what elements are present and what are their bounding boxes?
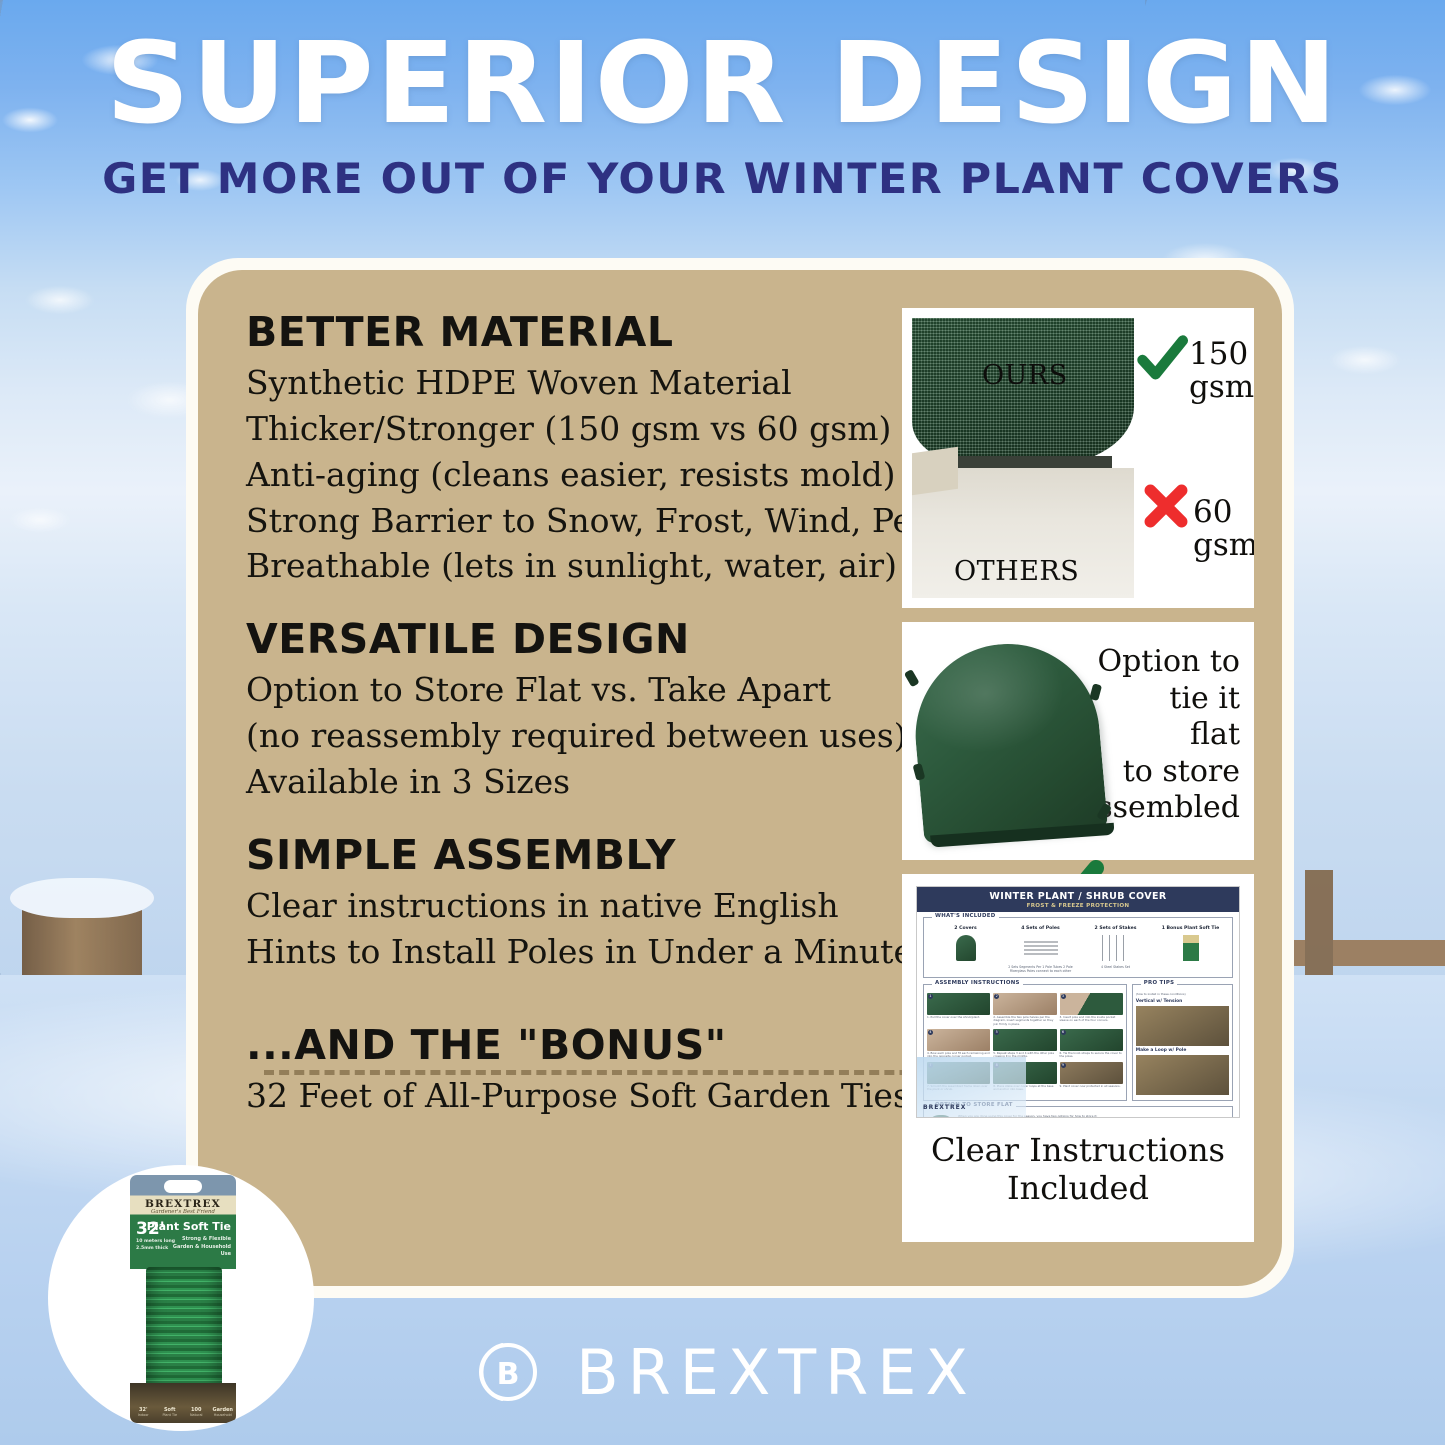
- feature-line: Strong Barrier to Snow, Frost, Wind, Pes…: [246, 498, 1016, 544]
- feature-line: Hints to Install Poles in Under a Minute: [246, 929, 1016, 975]
- assembly-step: 44. Bow each pole and fit each remaining…: [927, 1029, 990, 1059]
- footer-item-label: Household: [210, 1413, 237, 1417]
- gsm-good-row: 150 gsm: [1136, 334, 1254, 403]
- included-item-name: 2 Sets of Stakes: [1080, 926, 1152, 931]
- stakes-icon: [1080, 933, 1152, 963]
- soft-tie-product-badge: BREXTREX Gardener's Best Friend 32' 10 m…: [48, 1165, 314, 1431]
- package-footer-card: 32' Indoor Soft Plant Tie 100 Natural Ga…: [130, 1383, 236, 1423]
- panel-fabric-comparison: OURS OTHERS 150 gsm: [902, 308, 1254, 608]
- footer-item-label: Indoor: [130, 1413, 157, 1417]
- gsm-bad-unit: gsm: [1193, 529, 1254, 562]
- included-item-name: 4 Sets of Poles: [1005, 926, 1077, 931]
- gsm-bad-row: 60 gsm: [1140, 480, 1254, 561]
- fabric-gsm-marks: 150 gsm 60 gsm: [1134, 318, 1244, 598]
- step-caption: 2. Assemble the two pole halves per the …: [993, 1016, 1056, 1026]
- section-divider: [264, 1070, 970, 1075]
- package-product-name: Plant Soft Tie: [147, 1220, 231, 1233]
- feature-card: BETTER MATERIAL Synthetic HDPE Woven Mat…: [198, 270, 1282, 1286]
- sheet-subtitle: FROST & FREEZE PROTECTION: [917, 903, 1239, 909]
- feature-section-better-material: BETTER MATERIAL Synthetic HDPE Woven Mat…: [246, 308, 1016, 589]
- included-item: 4 Sets of Poles 2 Sets Segments Per 1 Po…: [1005, 926, 1077, 973]
- section-heading: VERSATILE DESIGN: [246, 615, 1016, 663]
- package-footer-item: Soft Plant Tie: [157, 1407, 184, 1417]
- pro-tips-sub: (how to install in these conditions): [1136, 993, 1229, 997]
- feature-card-frame: BETTER MATERIAL Synthetic HDPE Woven Mat…: [186, 258, 1294, 1298]
- feature-section-versatile-design: VERSATILE DESIGN Option to Store Flat vs…: [246, 615, 1016, 805]
- cross-icon: [1140, 480, 1192, 532]
- poles-icon: [1005, 933, 1077, 963]
- feature-line: Synthetic HDPE Woven Material: [246, 360, 1016, 406]
- step-number: 6: [1061, 1030, 1066, 1035]
- feature-line: Thicker/Stronger (150 gsm vs 60 gsm): [246, 406, 1016, 452]
- ours-label: OURS: [982, 360, 1068, 391]
- panel-store-flat: Option to tie it flat to store assembled: [902, 622, 1254, 860]
- package-footer-item: 100 Natural: [183, 1407, 210, 1417]
- product-image-panels: OURS OTHERS 150 gsm: [902, 308, 1254, 1256]
- footer-item-label: Plant Tie: [157, 1413, 184, 1417]
- feature-line: Available in 3 Sizes: [246, 759, 1016, 805]
- tie-strap: [904, 669, 920, 687]
- sheet-header: WINTER PLANT / SHRUB COVER FROST & FREEZ…: [917, 887, 1239, 912]
- assembly-label: ASSEMBLY INSTRUCTIONS: [932, 980, 1023, 986]
- package-features: Strong & Flexible Garden & Household Use: [169, 1236, 231, 1259]
- feature-section-simple-assembly: SIMPLE ASSEMBLY Clear instructions in na…: [246, 831, 1016, 975]
- step-caption: 1. Pull the cover over the shrub/plant.: [927, 1016, 990, 1019]
- included-item: 2 Covers: [930, 926, 1002, 973]
- feature-line: Option to Store Flat vs. Take Apart: [246, 667, 1016, 713]
- section-heading: SIMPLE ASSEMBLY: [246, 831, 1016, 879]
- step-number: 1: [928, 994, 933, 999]
- step-number: 3: [1061, 994, 1066, 999]
- step-caption: 9. Plant cover now protected in all seas…: [1060, 1085, 1123, 1088]
- cover-icon: [930, 933, 1002, 963]
- gsm-good-unit: gsm: [1189, 371, 1254, 404]
- fabric-photo: OURS OTHERS: [912, 318, 1134, 598]
- gsm-good-text: 150 gsm: [1189, 338, 1254, 403]
- brand-name: BREXTREX: [576, 1336, 977, 1409]
- step-number: 4: [928, 1030, 933, 1035]
- step-caption: 3. Insert pole end into the inside pocke…: [1060, 1016, 1123, 1023]
- green-tie-coil: [146, 1267, 222, 1389]
- assembly-step: 66. Tie the knob straps to secure the co…: [1060, 1029, 1123, 1059]
- assembly-step: 55. Repeat steps 3 and 4 with the other …: [993, 1029, 1056, 1059]
- feature-line: Breathable (lets in sunlight, water, air…: [246, 543, 1016, 589]
- svg-text:B: B: [497, 1357, 520, 1392]
- footer-item-label: Natural: [183, 1413, 210, 1417]
- assembly-step: 22. Assemble the two pole halves per the…: [993, 993, 1056, 1026]
- package-footer-item: 32' Indoor: [130, 1407, 157, 1417]
- folded-cover-photo: [912, 632, 1079, 850]
- package-footer-item: Garden Household: [210, 1407, 237, 1417]
- package-header-card: BREXTREX Gardener's Best Friend 32' 10 m…: [130, 1175, 236, 1269]
- pro-tip-photo: [1136, 1055, 1229, 1095]
- included-item: 2 Sets of Stakes 4 Steel Stakes Set: [1080, 926, 1152, 973]
- circled-b-logo-icon: B: [468, 1335, 542, 1409]
- others-label: OTHERS: [954, 556, 1079, 587]
- included-item: 1 Bonus Plant Soft Tie: [1155, 926, 1227, 973]
- section-heading: ...AND THE "BONUS": [246, 1021, 1016, 1069]
- package-tagline: Gardener's Best Friend: [130, 1209, 236, 1215]
- tie-strap: [913, 763, 926, 781]
- pro-tips-label: PRO TIPS: [1141, 980, 1177, 986]
- feature-list: BETTER MATERIAL Synthetic HDPE Woven Mat…: [246, 308, 1016, 1118]
- whats-included-label: WHAT'S INCLUDED: [932, 913, 999, 919]
- gsm-good-value: 150: [1189, 338, 1254, 371]
- feature-line: Anti-aging (cleans easier, resists mold): [246, 452, 1016, 498]
- page-subtitle: GET MORE OUT OF YOUR WINTER PLANT COVERS: [0, 154, 1445, 203]
- ours-fabric-swatch: [912, 318, 1134, 466]
- hang-hole: [164, 1180, 202, 1193]
- gsm-bad-text: 60 gsm: [1193, 496, 1254, 561]
- assembly-step: 33. Insert pole end into the inside pock…: [1060, 993, 1123, 1026]
- feature-line: 32 Feet of All-Purpose Soft Garden Ties!: [246, 1073, 1016, 1119]
- panel-instruction-sheet: WINTER PLANT / SHRUB COVER FROST & FREEZ…: [902, 874, 1254, 1242]
- soft-tie-icon: [1155, 933, 1227, 963]
- pro-tip-photo: [1136, 1006, 1229, 1046]
- soft-tie-package: BREXTREX Gardener's Best Friend 32' 10 m…: [130, 1175, 236, 1423]
- sheet-brand-logo: BREXTREX: [923, 1104, 966, 1111]
- instruction-sheet-caption: Clear Instructions Included: [916, 1132, 1240, 1208]
- header: SUPERIOR DESIGN GET MORE OUT OF YOUR WIN…: [0, 0, 1445, 240]
- feature-line: (no reassembly required between uses): [246, 713, 1016, 759]
- folded-plant-cover: [908, 636, 1108, 843]
- pro-tip-title: Make a Loop w/ Pole: [1136, 1048, 1229, 1053]
- check-icon: [1136, 334, 1188, 386]
- feature-line: Clear instructions in native English: [246, 883, 1016, 929]
- included-item-note: 2 Sets Segments Per 1 Pole Tubes 2 Pole …: [1005, 965, 1077, 973]
- step-caption: 6. Tie the knob straps to secure the cov…: [1060, 1052, 1123, 1059]
- included-item-name: 1 Bonus Plant Soft Tie: [1155, 926, 1227, 931]
- pro-tip-title: Vertical w/ Tension: [1136, 999, 1229, 1004]
- assembly-step: 11. Pull the cover over the shrub/plant.: [927, 993, 990, 1026]
- included-items-row: 2 Covers 4 Sets of Poles 2 Sets Segments…: [928, 926, 1228, 973]
- sheet-title: WINTER PLANT / SHRUB COVER: [917, 891, 1239, 902]
- included-item-name: 2 Covers: [930, 926, 1002, 931]
- section-heading: BETTER MATERIAL: [246, 308, 1016, 356]
- included-item-note: 4 Steel Stakes Set: [1080, 965, 1152, 969]
- gsm-bad-value: 60: [1193, 496, 1254, 529]
- instruction-sheet-thumbnail: WINTER PLANT / SHRUB COVER FROST & FREEZ…: [916, 886, 1240, 1118]
- pro-tips-box: PRO TIPS (how to install in these condit…: [1132, 984, 1233, 1101]
- assembly-step: 99. Plant cover now protected in all sea…: [1060, 1062, 1123, 1092]
- page-title: SUPERIOR DESIGN: [0, 28, 1445, 140]
- whats-included-box: WHAT'S INCLUDED 2 Covers 4 Sets of Poles…: [923, 917, 1233, 978]
- step-number: 9: [1061, 1063, 1066, 1068]
